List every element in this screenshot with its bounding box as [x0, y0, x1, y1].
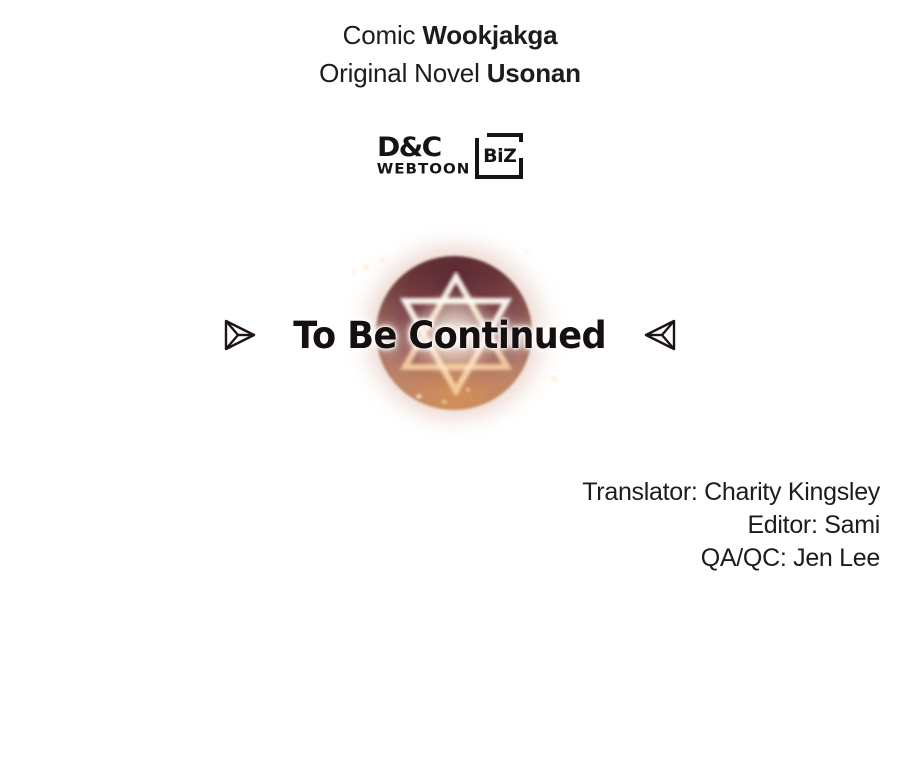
to-be-continued-banner: To Be Continued: [0, 306, 900, 364]
publisher-logo-primary: D&C: [377, 135, 441, 161]
original-novel-credit-label: Original Novel: [319, 58, 480, 88]
glow-speck: [525, 250, 530, 254]
publisher-logo-wordmark: D&C WEBTOON: [377, 130, 475, 182]
original-novel-credit-line: Original Novel Usonan: [0, 60, 900, 86]
triangle-left-icon: [641, 315, 681, 355]
publisher-logo-badge: BiZ: [475, 133, 523, 179]
original-novel-credit-value: Usonan: [487, 58, 581, 88]
glow-speck: [442, 400, 447, 404]
webtoon-end-card: Comic Wookjakga Original Novel Usonan D&…: [0, 0, 900, 766]
glow-speck: [362, 264, 369, 270]
translator-credit: Translator: Charity Kingsley: [320, 476, 880, 509]
triangle-right-icon: [219, 315, 259, 355]
glow-speck: [351, 270, 355, 274]
editor-credit: Editor: Sami: [320, 509, 880, 542]
publisher-logo-badge-label: BiZ: [475, 133, 523, 179]
glow-speck: [416, 394, 422, 399]
glow-speck: [380, 258, 385, 263]
publisher-logo-secondary: WEBTOON: [377, 161, 471, 177]
glow-speck: [551, 376, 558, 382]
publisher-logo: D&C WEBTOON BiZ: [0, 130, 900, 182]
to-be-continued-text: To Be Continued: [294, 314, 607, 357]
comic-credit-label: Comic: [343, 20, 416, 50]
comic-credit-value: Wookjakga: [422, 20, 557, 50]
comic-credit-line: Comic Wookjakga: [0, 22, 900, 48]
qa-qc-credit: QA/QC: Jen Lee: [320, 542, 880, 575]
glow-speck: [466, 388, 470, 392]
staff-credits: Translator: Charity Kingsley Editor: Sam…: [320, 476, 880, 575]
